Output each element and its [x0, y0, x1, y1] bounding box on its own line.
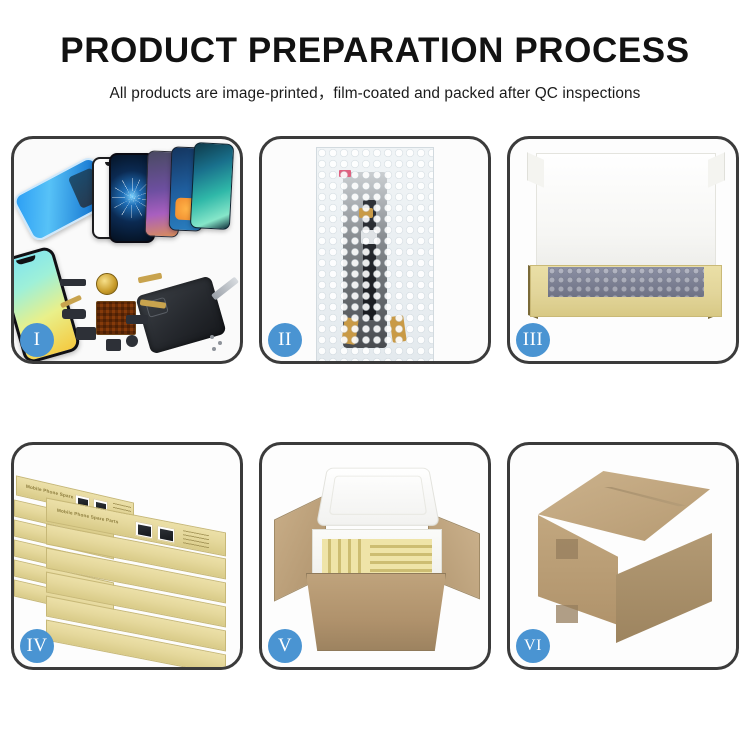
small-part-icon — [60, 279, 86, 286]
box-product-photo — [157, 525, 175, 543]
process-step-5: V — [259, 442, 491, 670]
screwdriver-icon — [211, 277, 239, 301]
process-step-2: II — [259, 136, 491, 364]
foam-lid-icon — [316, 468, 440, 526]
carton-tape-icon — [556, 605, 578, 623]
box-spec-lines — [183, 530, 209, 550]
page-header: PRODUCT PREPARATION PROCESS All products… — [0, 0, 750, 103]
screw-icon — [218, 341, 222, 345]
step-badge-2: II — [268, 323, 302, 357]
process-step-6: VI — [507, 442, 739, 670]
box-product-photo — [135, 521, 153, 539]
small-part-icon — [106, 339, 121, 351]
gold-speaker-coil-icon — [96, 273, 118, 295]
carton-tape-icon — [556, 539, 578, 559]
box-print-label: Mobile Phone Spare Parts — [57, 508, 118, 525]
screw-icon — [212, 347, 216, 351]
step-badge-5: V — [268, 629, 302, 663]
step-badge-6: VI — [516, 629, 550, 663]
process-step-4: Mobile Phone Spare Parts Mobile Phone Sp… — [11, 442, 243, 670]
foam-padding-icon — [548, 267, 704, 297]
process-step-grid: I II — [0, 136, 750, 670]
small-part-icon — [126, 335, 138, 347]
teal-wave-phone-icon — [190, 142, 234, 230]
bubble-wrap-bag-icon — [316, 147, 434, 361]
step-badge-1: I — [20, 323, 54, 357]
page-title: PRODUCT PREPARATION PROCESS — [0, 33, 750, 70]
phone-back-housing-icon — [135, 275, 227, 354]
screw-icon — [210, 335, 214, 339]
step-badge-4: IV — [20, 629, 54, 663]
carton-left-face-icon — [538, 515, 618, 625]
outer-carton-icon — [306, 573, 446, 651]
process-step-3: III — [507, 136, 739, 364]
product-preparation-page: PRODUCT PREPARATION PROCESS All products… — [0, 0, 750, 750]
small-part-icon — [126, 315, 148, 324]
page-subtitle: All products are image-printed，film-coat… — [0, 81, 750, 103]
process-step-1: I — [11, 136, 243, 364]
carton-right-face-icon — [616, 533, 712, 643]
step-badge-3: III — [516, 323, 550, 357]
small-part-icon — [76, 327, 96, 340]
box-lid-icon — [536, 153, 716, 269]
flex-cable-icon — [138, 273, 163, 284]
small-part-icon — [62, 309, 86, 319]
bubble-texture-overlay — [317, 148, 433, 361]
